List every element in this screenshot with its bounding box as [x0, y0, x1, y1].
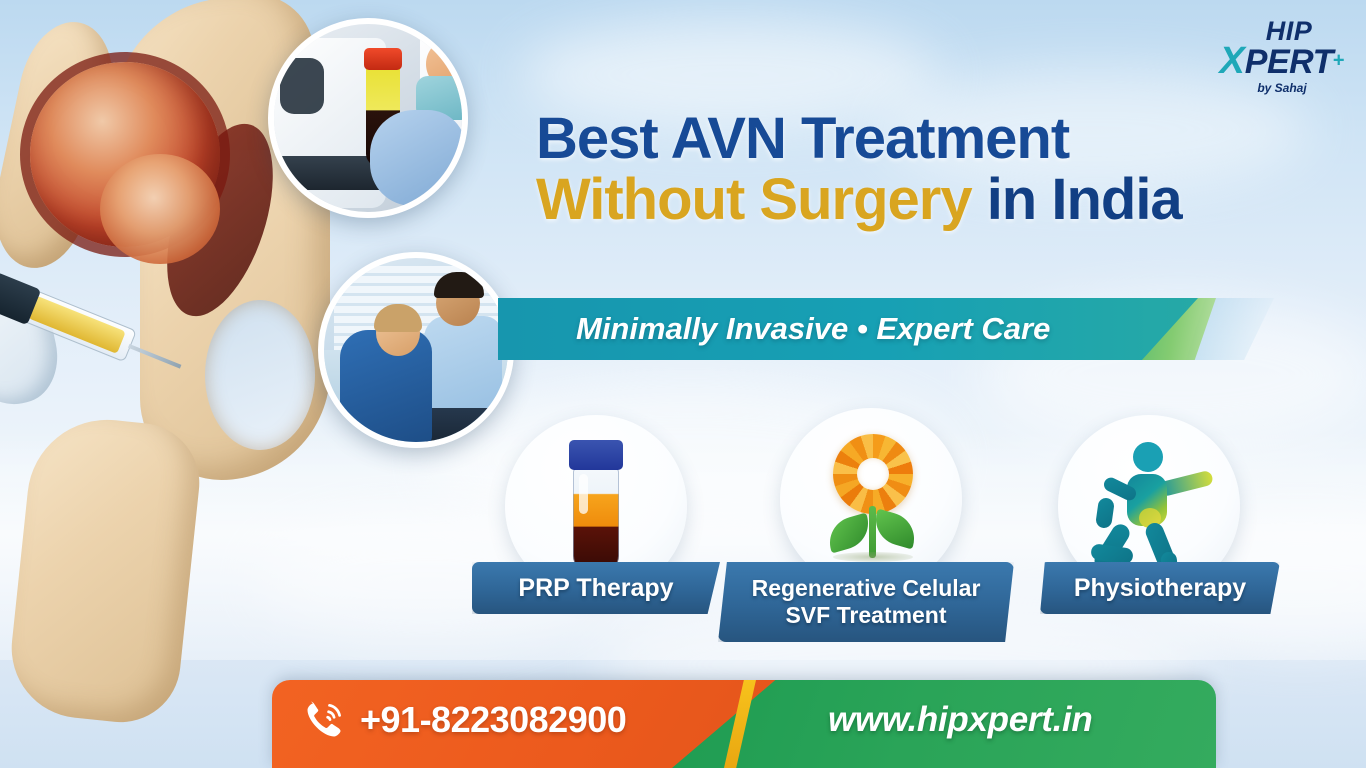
- logo-x-letter: X: [1219, 40, 1244, 82]
- necrotic-femoral-head: [30, 62, 220, 247]
- figure-forearm: [1095, 497, 1115, 529]
- flower-ground-shadow: [833, 552, 913, 562]
- figure-head: [1133, 442, 1163, 472]
- flower-stem: [869, 506, 876, 558]
- physiotherapy-label[interactable]: Physiotherapy: [1040, 562, 1280, 614]
- headline-highlight-text: Without Surgery: [536, 167, 972, 232]
- headline-block: Best AVN Treatment Without Surgery in In…: [536, 108, 1276, 231]
- banner-canvas: HIP XPERT+ by Sahaj Best AVN Treatment W…: [0, 0, 1366, 768]
- logo-hip-text: HIP: [1230, 18, 1348, 45]
- obturator-foramen: [205, 300, 315, 450]
- syringe-needle: [128, 344, 181, 369]
- machine-screen: [280, 58, 324, 114]
- tube-cap: [364, 48, 402, 70]
- phone-group[interactable]: +91-8223082900: [302, 698, 626, 742]
- prp-label[interactable]: PRP Therapy: [472, 562, 720, 614]
- necrosis-lesion: [100, 154, 220, 264]
- logo-pert-text: PERT: [1245, 43, 1333, 81]
- subtitle-ribbon: Minimally Invasive • Expert Care: [498, 298, 1198, 360]
- gloved-hand-holding-tube: [370, 110, 466, 206]
- brand-logo[interactable]: HIP XPERT+ by Sahaj: [1216, 18, 1348, 104]
- logo-xpert-row: XPERT+: [1216, 42, 1348, 80]
- lab-photo: [268, 18, 468, 218]
- svf-label-line1: Regenerative Celular: [752, 575, 981, 602]
- blood-vial-icon: [567, 440, 625, 572]
- svf-label-line2: SVF Treatment: [752, 602, 981, 629]
- vial-cap: [569, 440, 623, 470]
- stretching-figure-icon: [1089, 442, 1209, 570]
- headline-line2-tail: in India: [972, 167, 1182, 232]
- femur-lower-bone: [5, 412, 205, 728]
- logo-tagline: by Sahaj: [1216, 81, 1348, 95]
- headline-line-2: Without Surgery in India: [536, 169, 1276, 230]
- subtitle-text: Minimally Invasive • Expert Care: [576, 311, 1050, 347]
- website-url[interactable]: www.hipxpert.in: [828, 700, 1093, 740]
- ringing-phone-icon: [302, 698, 346, 742]
- vial-gloss: [579, 474, 588, 514]
- flower-regeneration-icon: [811, 434, 931, 564]
- contact-bar: +91-8223082900 www.hipxpert.in: [272, 680, 1216, 768]
- flower-leaf-left: [824, 513, 875, 554]
- phone-number[interactable]: +91-8223082900: [360, 699, 626, 741]
- headline-line-1: Best AVN Treatment: [536, 108, 1276, 169]
- flower-leaf-right: [870, 509, 921, 550]
- flower-center: [857, 458, 889, 490]
- headline-line1-text: Best AVN Treatment: [536, 106, 1069, 171]
- physiotherapy-photo: [318, 252, 514, 448]
- logo-plus-icon: +: [1333, 50, 1345, 72]
- svf-label[interactable]: Regenerative Celular SVF Treatment: [718, 562, 1014, 642]
